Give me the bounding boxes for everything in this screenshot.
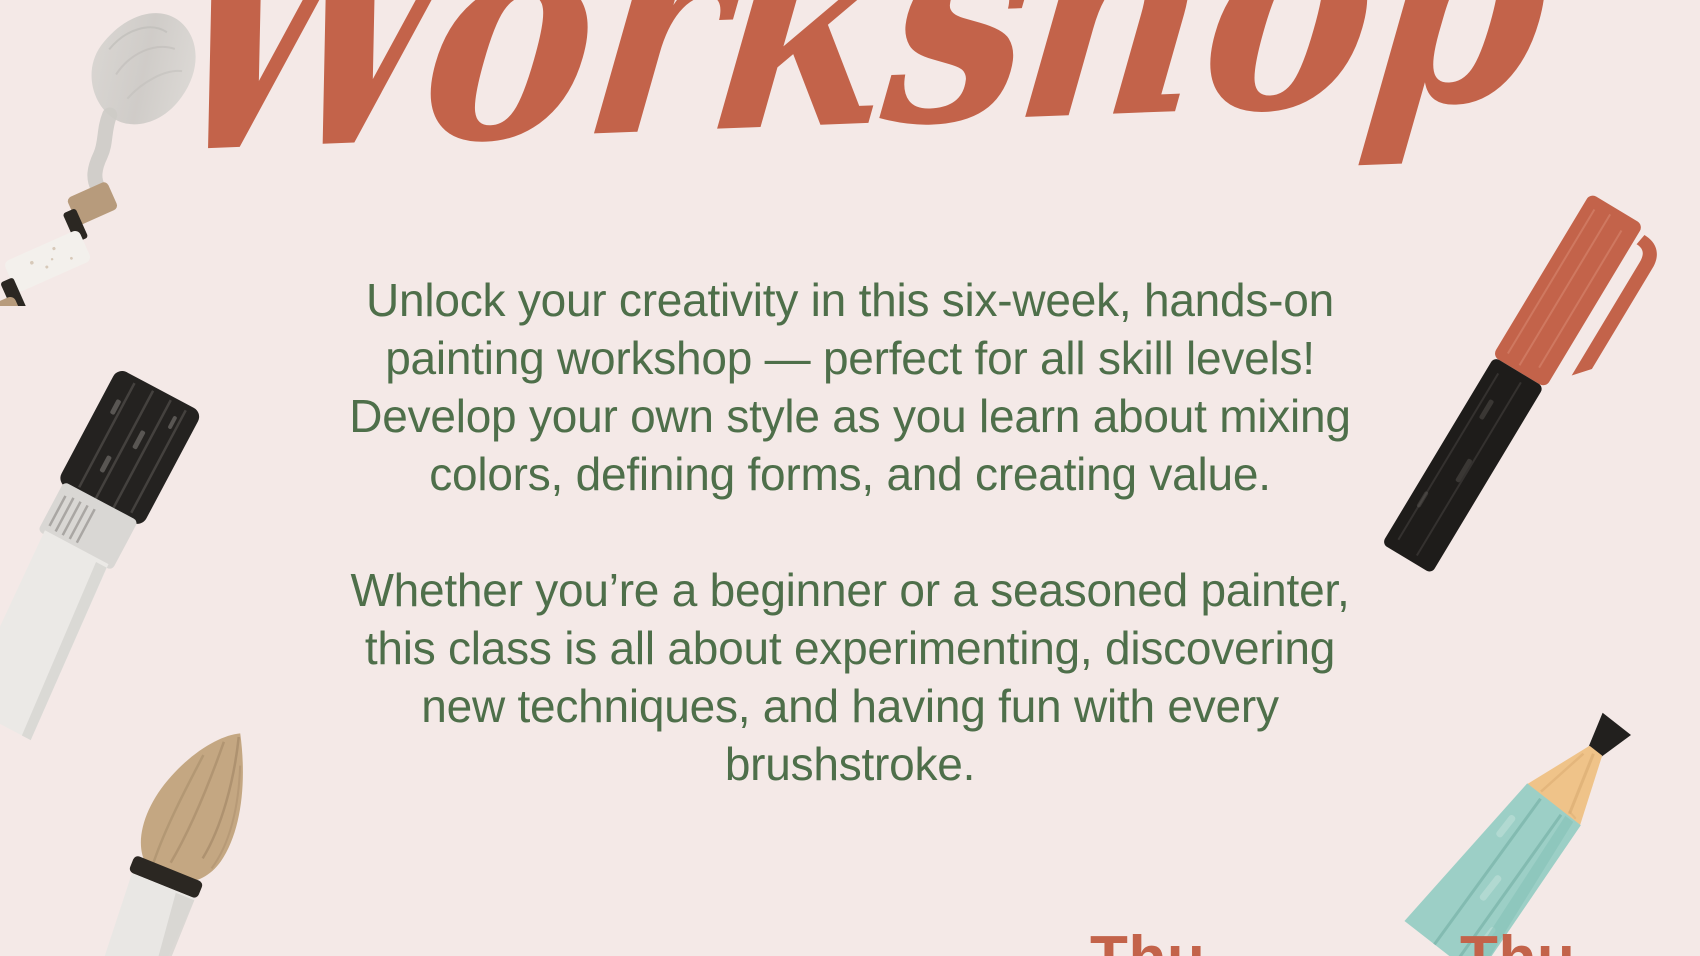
marker-pen-icon bbox=[1330, 178, 1700, 608]
description-block: Unlock your creativity in this six-week,… bbox=[320, 272, 1380, 794]
page-title: Workshop bbox=[153, 0, 1562, 194]
bottom-text-fragment-right: Thu bbox=[1460, 928, 1575, 956]
paragraph-spacer bbox=[320, 504, 1380, 562]
bottom-cropped-text-strip: Thu Thu bbox=[0, 928, 1700, 956]
colored-pencil-icon bbox=[1350, 690, 1700, 956]
palette-knife-icon bbox=[0, 0, 290, 306]
description-paragraph-2: Whether you’re a beginner or a seasoned … bbox=[320, 562, 1380, 794]
flat-paint-brush-icon bbox=[0, 342, 214, 742]
bottom-text-fragment-left: Thu bbox=[1090, 928, 1205, 956]
round-paint-brush-icon bbox=[60, 712, 310, 956]
description-paragraph-1: Unlock your creativity in this six-week,… bbox=[320, 272, 1380, 504]
flyer-canvas: Workshop Unlock your creativity in this … bbox=[0, 0, 1700, 956]
title-container: Workshop bbox=[0, 0, 1700, 154]
